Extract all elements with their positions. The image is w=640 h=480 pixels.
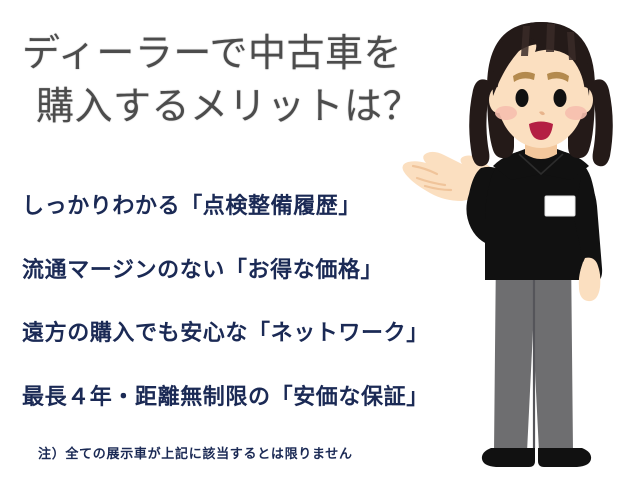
eye-left-shape [516,89,529,107]
name-tag [545,196,575,216]
trousers-shape [494,250,573,452]
hair-side-left-shape [469,79,491,166]
benefit-item-2: 流通マージンのない「お得な価格」 [22,252,383,284]
title-line-1: ディーラーで中古車を [22,28,452,81]
shoes-shape [482,448,591,467]
cheek-right-shape [565,106,587,120]
eye-right-shape [554,89,567,107]
hair-side-right-shape [591,79,613,166]
benefit-item-4: 最長４年・距離無制限の「安価な保証」 [22,379,429,411]
page-title: ディーラーで中古車を 購入するメリットは？ [22,28,452,134]
footnote-disclaimer: 注）全ての展示車が上記に該当するとは限りません [38,443,353,462]
benefit-item-3: 遠方の購入でも安心な「ネットワーク」 [22,315,429,347]
benefit-item-1: しっかりわかる「点検整備履歴」 [22,188,361,220]
hair-shine-2 [546,24,555,52]
slide-canvas: ディーラーで中古車を 購入するメリットは？ しっかりわかる「点検整備履歴」 流通… [0,0,640,480]
staff-illustration [395,0,640,480]
cheek-left-shape [495,106,517,120]
title-line-2: 購入するメリットは？ [22,81,452,134]
